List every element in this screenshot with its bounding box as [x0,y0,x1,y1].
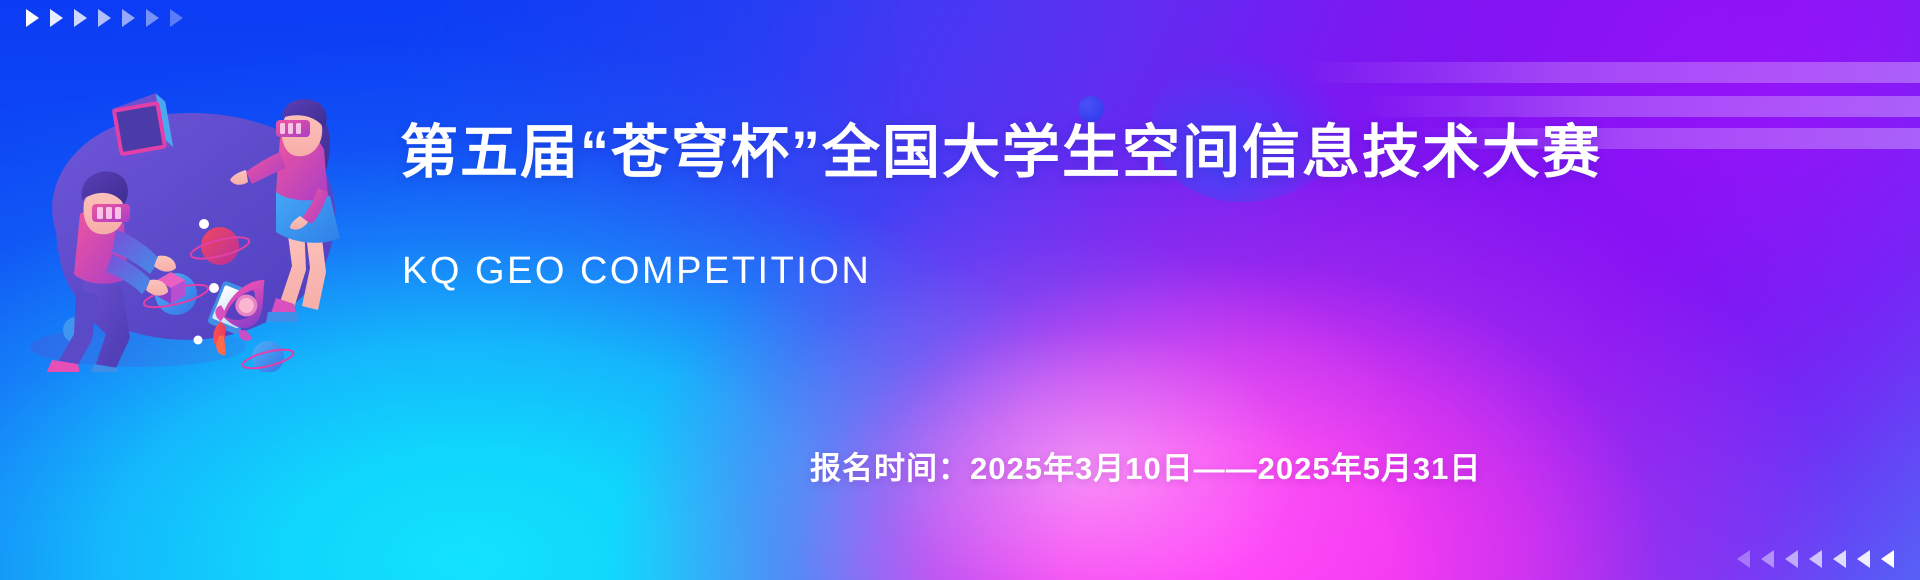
triangle-right-icon [122,9,135,27]
stripe-2 [1360,96,1920,117]
triangle-right-icon [146,9,159,27]
triangle-left-icon [1833,550,1846,568]
bottom-right-arrow-row [1737,550,1894,568]
triangle-left-icon [1737,550,1750,568]
star [209,283,219,293]
triangle-left-icon [1761,550,1774,568]
triangle-right-icon [50,9,63,27]
triangle-right-icon [74,9,87,27]
triangle-right-icon [98,9,111,27]
star [199,219,209,229]
vr-goggles [276,120,310,137]
top-left-arrow-row [26,9,183,27]
registration-period: 报名时间：2025年3月10日——2025年5月31日 [810,453,1481,484]
triangle-left-icon [1785,550,1798,568]
triangle-right-icon [26,9,39,27]
competition-banner: 第五届“苍穹杯”全国大学生空间信息技术大赛 KQ GEO COMPETITION… [0,0,1920,580]
vr-space-illustration [18,72,348,372]
faint-planet-icon [1078,96,1104,122]
banner-title-chinese: 第五届“苍穹杯”全国大学生空间信息技术大赛 [400,124,1602,182]
triangle-right-icon [170,9,183,27]
triangle-left-icon [1881,550,1894,568]
planet-blue-small [241,341,295,372]
triangle-left-icon [1857,550,1870,568]
vr-goggles [92,204,130,222]
banner-title-english: KQ GEO COMPETITION [402,252,871,290]
star [194,336,203,345]
triangle-left-icon [1809,550,1822,568]
stripe-1 [1300,62,1920,83]
